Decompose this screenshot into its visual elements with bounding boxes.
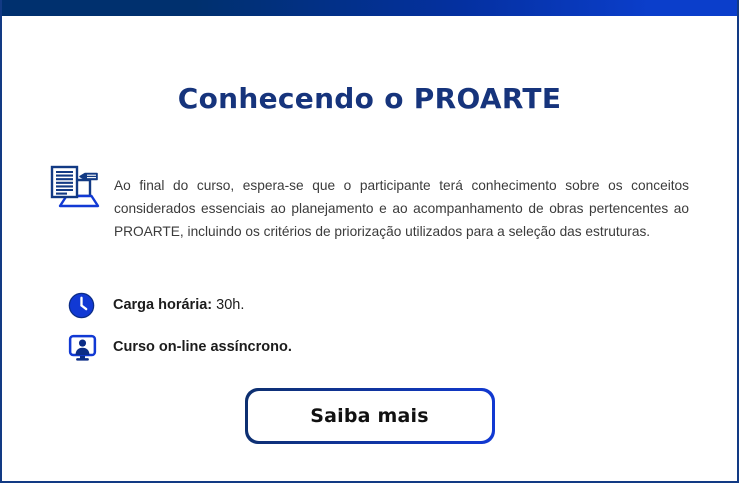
info-list: Carga horária: 30h. Curso on-line assínc…	[2, 290, 737, 362]
workload-value: 30h.	[212, 297, 244, 313]
intro-paragraph: Ao final do curso, espera-se que o parti…	[114, 174, 689, 243]
saiba-mais-button[interactable]: Saiba mais	[245, 388, 495, 444]
monitor-person-icon	[68, 332, 98, 362]
intro-row: Ao final do curso, espera-se que o parti…	[2, 160, 737, 256]
course-card: Conhecendo o PROARTE	[0, 0, 739, 483]
clock-icon	[68, 290, 98, 320]
top-gradient-bar	[2, 0, 739, 16]
info-row-modality-text: Curso on-line assíncrono.	[113, 339, 292, 355]
info-row-workload-text: Carga horária: 30h.	[113, 297, 244, 313]
button-container: Saiba mais	[2, 388, 737, 444]
card-content: Conhecendo o PROARTE	[2, 16, 737, 481]
modality-label: Curso on-line assíncrono.	[113, 339, 292, 355]
workload-label: Carga horária:	[113, 297, 212, 313]
computer-document-pencil-icon	[48, 164, 100, 210]
info-row-workload: Carga horária: 30h.	[68, 290, 737, 320]
page-title: Conhecendo o PROARTE	[2, 16, 737, 115]
saiba-mais-button-label: Saiba mais	[248, 391, 492, 441]
info-row-modality: Curso on-line assíncrono.	[68, 332, 737, 362]
